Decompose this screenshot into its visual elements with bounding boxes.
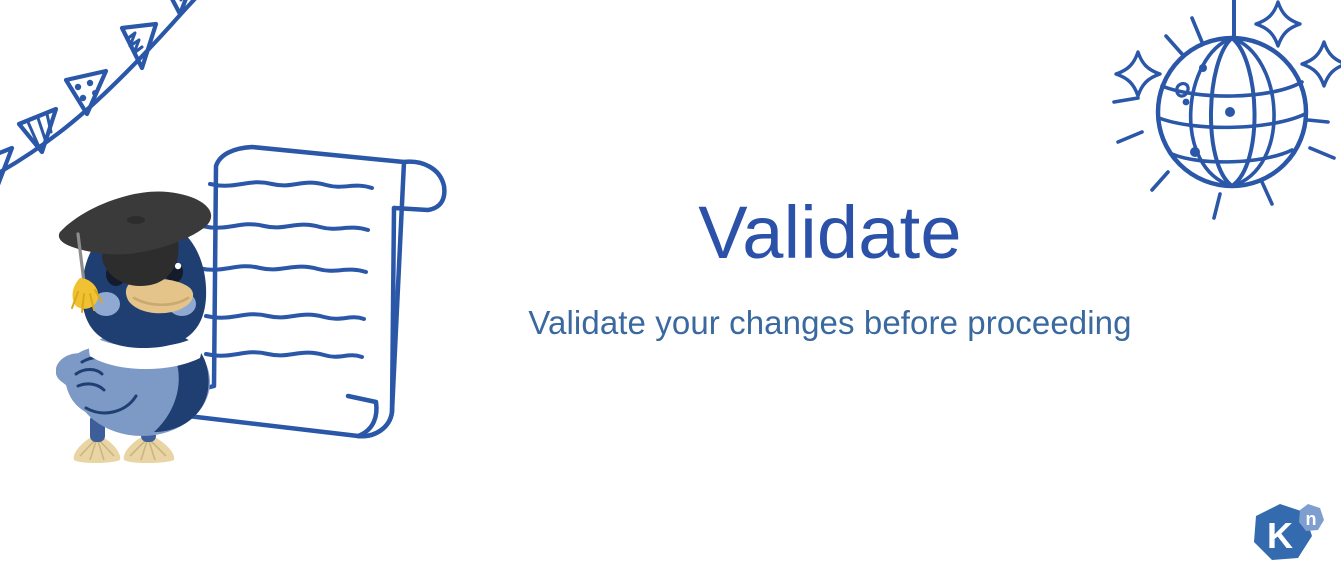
- bunting-flags-decoration: [0, 0, 224, 192]
- mascot-feet: [74, 414, 175, 463]
- page-title: Validate: [330, 196, 1330, 270]
- slide-canvas: Validate Validate your changes before pr…: [0, 0, 1341, 585]
- logo-letter-k: K: [1267, 515, 1293, 556]
- graduation-cap: [59, 191, 211, 312]
- page-subtitle: Validate your changes before proceeding: [330, 306, 1330, 339]
- logo-letter-n: n: [1306, 509, 1317, 529]
- kn-brand-logo: K n: [1246, 498, 1328, 578]
- graduate-bird-mascot: [56, 186, 240, 468]
- hero-text-block: Validate Validate your changes before pr…: [330, 196, 1330, 339]
